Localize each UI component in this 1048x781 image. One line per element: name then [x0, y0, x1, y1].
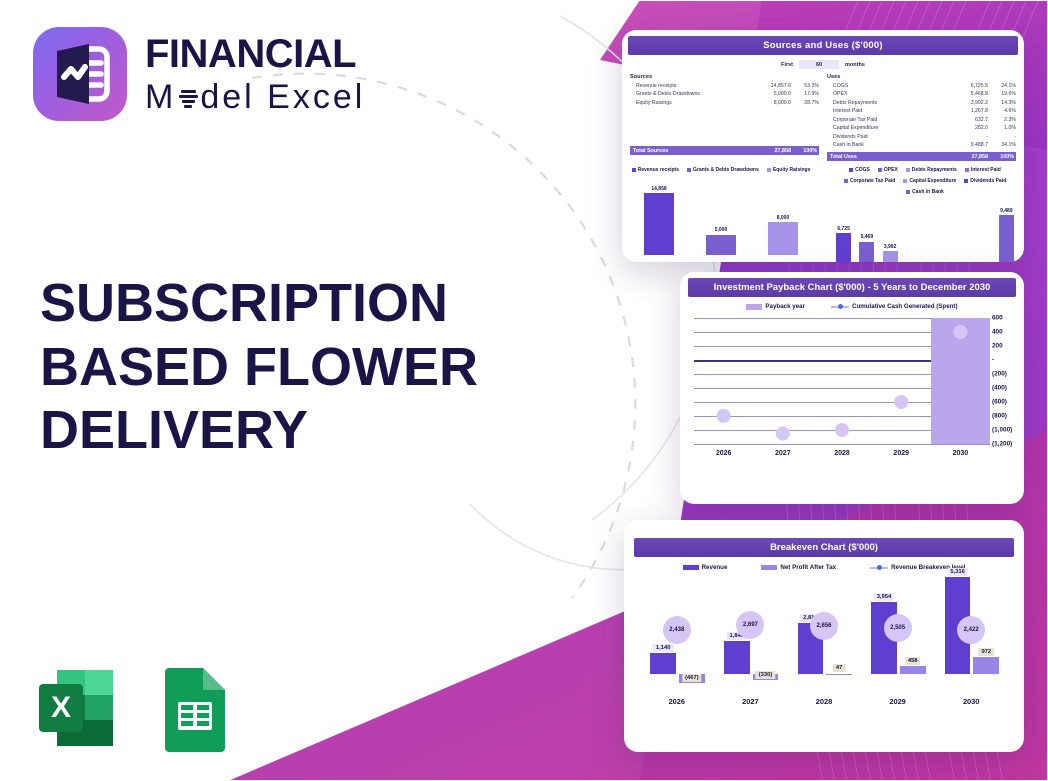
- row-pct: 28.7%: [791, 99, 819, 107]
- legend-swatch: [906, 190, 910, 194]
- bar: [768, 222, 798, 255]
- legend-swatch: [849, 168, 853, 172]
- row-pct: 4.6%: [988, 107, 1016, 115]
- row-pct: 34.1%: [988, 141, 1016, 149]
- bar-group: 3,992: [883, 199, 898, 262]
- bar: [883, 251, 898, 262]
- breakeven-data-point: 2,697: [736, 611, 764, 639]
- table-row: Corporate Tax Paid 632.7 2.3%: [827, 116, 1016, 124]
- legend-item-revenue: Revenue: [683, 564, 728, 571]
- legend-label: OPEX: [884, 167, 898, 173]
- breakeven-data-point: 2,505: [884, 614, 912, 642]
- months-input[interactable]: 60: [799, 60, 839, 69]
- row-value: 5,468.8: [954, 90, 988, 98]
- row-label: Dividends Paid: [827, 133, 954, 141]
- table-row: Equity Raisings 8,000.0 28.7%: [630, 99, 819, 107]
- payback-data-point: [894, 395, 908, 409]
- row-value: 14,857.6: [757, 82, 791, 90]
- y-tick-label: (1,200): [992, 441, 1012, 448]
- x-tick-label: 2030: [931, 450, 990, 457]
- row-value: 3,992.2: [954, 99, 988, 107]
- bar-value-label: 8,000: [777, 215, 790, 221]
- months-selector-row: First 60 months: [622, 60, 1024, 69]
- row-value: 9,488.7: [954, 141, 988, 149]
- supported-apps: X: [33, 664, 231, 757]
- bar-value-label: 6,725: [837, 226, 850, 232]
- bar: [644, 193, 674, 255]
- y-tick-label: (800): [992, 413, 1007, 420]
- uses-header: Uses: [827, 74, 1016, 80]
- brand-name-bottom: M del Excel: [145, 80, 365, 114]
- google-sheets-icon: [159, 664, 231, 757]
- row-label: Cash in Bank: [827, 141, 954, 149]
- x-tick-label: 2026: [640, 697, 714, 706]
- y-tick-label: -: [992, 357, 994, 364]
- bar: [836, 233, 851, 262]
- row-pct: -: [988, 133, 1016, 141]
- legend-label: Revenue receipts: [638, 167, 679, 173]
- row-label: Grants & Debts Drawdowns: [630, 90, 757, 98]
- legend-item: Grants & Debts Drawdowns: [687, 167, 759, 173]
- payback-line-series: [694, 318, 990, 444]
- legend-label: Capital Expenditure: [909, 178, 956, 184]
- row-label: OPEX: [827, 90, 954, 98]
- x-tick-label: 2030: [934, 697, 1008, 706]
- y-tick-label: (200): [992, 371, 1007, 378]
- table-row: Capital Expenditure 282.0 1.0%: [827, 124, 1016, 132]
- payback-y-axis-labels: 600400200-(200)(400)(600)(800)(1,000)(1,…: [992, 318, 1022, 444]
- bar-group: 0: [976, 199, 991, 262]
- legend-item: Revenue receipts: [632, 167, 679, 173]
- row-pct: 1.0%: [988, 124, 1016, 132]
- bar-group: 14,858: [644, 177, 674, 255]
- row-pct: 17.9%: [791, 90, 819, 98]
- y-tick-label: 200: [992, 343, 1003, 350]
- poster-canvas: FINANCIAL M del Excel SUBSCRIPTION BASED…: [0, 0, 1048, 781]
- payback-data-point: [835, 423, 849, 437]
- total-sources-row: Total Sources 27,858 100%: [630, 146, 819, 155]
- bar: [859, 242, 874, 262]
- payback-x-axis-labels: 20262027202820292030: [694, 450, 990, 457]
- legend-item: OPEX: [878, 167, 898, 173]
- table-row: Cash in Bank 9,488.7 34.1%: [827, 141, 1016, 149]
- bar: [999, 215, 1014, 262]
- legend-swatch: [878, 168, 882, 172]
- stacked-bars-icon: [177, 86, 199, 112]
- legend-item: Capital Expenditure: [903, 178, 956, 184]
- breakeven-data-point: 2,656: [810, 612, 838, 640]
- table-row: Grants & Debts Drawdowns 5,000.0 17.9%: [630, 90, 819, 98]
- bar-value-label: 9,489: [1000, 208, 1013, 214]
- bar-group: 282: [952, 199, 967, 262]
- total-value: 27,858: [954, 154, 988, 160]
- uses-column: Uses COGS 6,725.5 24.1% OPEX 5,468.8 19.…: [827, 74, 1016, 161]
- svg-text:X: X: [51, 691, 71, 724]
- total-label: Total Uses: [827, 154, 954, 160]
- page-title: SUBSCRIPTION BASED FLOWER DELIVERY: [40, 272, 580, 463]
- row-pct: 2.3%: [988, 116, 1016, 124]
- legend-swatch-line: [870, 567, 888, 569]
- table-row: Revenue receipts 14,857.6 53.3%: [630, 82, 819, 90]
- bar-group: 6,725: [836, 199, 851, 262]
- legend-item: Interest Paid: [965, 167, 1001, 173]
- legend-label: Interest Paid: [971, 167, 1001, 173]
- breakeven-plot-area: 1,140(467)1,848(330)2,814473,9544585,316…: [640, 577, 1008, 689]
- payback-data-point: [953, 325, 967, 339]
- payback-data-point: [776, 427, 790, 441]
- row-label: COGS: [827, 82, 954, 90]
- row-label: Equity Raisings: [630, 99, 757, 107]
- total-pct: 100%: [791, 148, 819, 154]
- bar-value-label: 5,000: [715, 227, 728, 233]
- legend-item: Corporate Tax Paid: [844, 178, 895, 184]
- legend-item-cumulative-cash: Cumulative Cash Generated (Spent): [831, 303, 958, 310]
- legend-label: Dividends Paid: [970, 178, 1006, 184]
- y-tick-label: 600: [992, 315, 1003, 322]
- logo-glyph: [33, 27, 127, 121]
- row-pct: 53.3%: [791, 82, 819, 90]
- legend-item: COGS: [849, 167, 870, 173]
- row-pct: 14.3%: [988, 99, 1016, 107]
- bar-group: 9,489: [999, 199, 1014, 262]
- months-prefix: First: [781, 62, 793, 68]
- row-value: 8,000.0: [757, 99, 791, 107]
- uses-chart-legend: COGSOPEXDebts RepaymentsInterest PaidCor…: [826, 167, 1024, 195]
- legend-item: Cash in Bank: [906, 189, 944, 195]
- payback-title: Investment Payback Chart ($'000) - 5 Yea…: [688, 278, 1016, 297]
- payback-legend: Payback year Cumulative Cash Generated (…: [680, 303, 1024, 310]
- payback-data-point: [717, 409, 731, 423]
- legend-item-payback-year: Payback year: [746, 303, 805, 310]
- panel-investment-payback[interactable]: Investment Payback Chart ($'000) - 5 Yea…: [680, 272, 1024, 504]
- financial-model-excel-logo-icon: [33, 27, 127, 121]
- bar-group: 8,000: [768, 177, 798, 255]
- legend-swatch: [964, 179, 968, 183]
- brand-name-bottom-pre: M: [145, 80, 176, 114]
- sources-bar-chart: Revenue receiptsGrants & Debts Drawdowns…: [622, 161, 820, 262]
- payback-plot-area: 600400200-(200)(400)(600)(800)(1,000)(1,…: [694, 318, 990, 444]
- table-row: Interest Paid 1,267.8 4.6%: [827, 107, 1016, 115]
- legend-swatch-revenue: [683, 565, 699, 570]
- table-row: COGS 6,725.5 24.1%: [827, 82, 1016, 90]
- row-label: Capital Expenditure: [827, 124, 954, 132]
- legend-label: Debts Repayments: [912, 167, 957, 173]
- x-tick-label: 2027: [714, 697, 788, 706]
- legend-item: Debts Repayments: [906, 167, 957, 173]
- bar-value-label: 3,992: [884, 244, 897, 250]
- legend-label: Payback year: [765, 303, 805, 310]
- row-value: 5,000.0: [757, 90, 791, 98]
- legend-label: Equity Raisings: [773, 167, 811, 173]
- bar-group: 5,000: [706, 177, 736, 255]
- legend-swatch: [632, 168, 636, 172]
- gridline: [694, 444, 990, 445]
- sources-uses-title: Sources and Uses ($'000): [628, 36, 1018, 55]
- row-pct: 24.1%: [988, 82, 1016, 90]
- sources-uses-charts: Revenue receiptsGrants & Debts Drawdowns…: [622, 161, 1024, 262]
- row-label: Debts Repayments: [827, 99, 954, 107]
- bar-group: 1,268: [906, 199, 921, 262]
- legend-swatch-line: [831, 306, 849, 308]
- x-tick-label: 2029: [861, 697, 935, 706]
- breakeven-data-point: 2,438: [663, 616, 691, 644]
- row-label: Revenue receipts: [630, 82, 757, 90]
- legend-label: Revenue: [702, 564, 728, 571]
- sources-bars: 14,8585,0008,000: [622, 177, 820, 255]
- panel-breakeven-chart[interactable]: Breakeven Chart ($'000) Revenue Net Prof…: [624, 520, 1024, 752]
- months-suffix: months: [845, 62, 865, 68]
- legend-swatch-npat: [761, 565, 777, 570]
- microsoft-excel-icon: X: [33, 664, 121, 757]
- x-tick-label: 2028: [812, 450, 871, 457]
- bar-value-label: 14,858: [651, 186, 666, 192]
- x-tick-label: 2028: [787, 697, 861, 706]
- row-label: Corporate Tax Paid: [827, 116, 954, 124]
- brand-name-bottom-post: del Excel: [200, 80, 365, 114]
- legend-label: Net Profit After Tax: [780, 564, 836, 571]
- sources-header: Sources: [630, 74, 819, 80]
- row-label: Interest Paid: [827, 107, 954, 115]
- spacer: [630, 131, 819, 143]
- uses-bars: 6,7255,4693,9921,26863328209,489: [826, 199, 1024, 262]
- legend-item: Dividends Paid: [964, 178, 1006, 184]
- brand-name-top: FINANCIAL: [145, 34, 365, 74]
- row-value: 282.0: [954, 124, 988, 132]
- x-tick-label: 2029: [872, 450, 931, 457]
- legend-item-npat: Net Profit After Tax: [761, 564, 836, 571]
- legend-swatch: [844, 179, 848, 183]
- uses-bar-chart: COGSOPEXDebts RepaymentsInterest PaidCor…: [826, 161, 1024, 262]
- sources-uses-table: Sources Revenue receipts 14,857.6 53.3% …: [622, 74, 1024, 161]
- legend-swatch: [687, 168, 691, 172]
- legend-swatch: [906, 168, 910, 172]
- legend-swatch: [767, 168, 771, 172]
- bar-value-label-revenue: 5,316: [947, 568, 968, 576]
- y-tick-label: 400: [992, 329, 1003, 336]
- sources-chart-legend: Revenue receiptsGrants & Debts Drawdowns…: [622, 167, 820, 173]
- legend-label: Corporate Tax Paid: [850, 178, 895, 184]
- row-value: 6,725.5: [954, 82, 988, 90]
- table-row: OPEX 5,468.8 19.6%: [827, 90, 1016, 98]
- bar: [706, 235, 736, 256]
- x-tick-label: 2027: [753, 450, 812, 457]
- legend-label: Cash in Bank: [912, 189, 944, 195]
- total-label: Total Sources: [630, 148, 757, 154]
- total-pct: 100%: [988, 154, 1016, 160]
- table-row: Debts Repayments 3,992.2 14.3%: [827, 99, 1016, 107]
- y-tick-label: (600): [992, 399, 1007, 406]
- panel-sources-and-uses[interactable]: Sources and Uses ($'000) First 60 months…: [622, 30, 1024, 262]
- bar-group: 633: [929, 199, 944, 262]
- breakeven-x-axis-labels: 20262027202820292030: [640, 697, 1008, 706]
- total-uses-row: Total Uses 27,858 100%: [827, 152, 1016, 161]
- row-value: -: [954, 133, 988, 141]
- bar-group: 5,469: [859, 199, 874, 262]
- table-row: Dividends Paid - -: [827, 133, 1016, 141]
- brand-wordmark: FINANCIAL M del Excel: [145, 34, 365, 114]
- y-tick-label: (1,000): [992, 427, 1012, 434]
- spacer: [630, 107, 819, 119]
- bar-value-label: 5,469: [861, 234, 874, 240]
- spacer: [630, 119, 819, 131]
- legend-swatch: [903, 179, 907, 183]
- y-tick-label: (400): [992, 385, 1007, 392]
- legend-label: Cumulative Cash Generated (Spent): [852, 303, 958, 310]
- row-pct: 19.6%: [988, 90, 1016, 98]
- legend-label: Grants & Debts Drawdowns: [693, 167, 759, 173]
- breakeven-data-point: 2,422: [957, 616, 985, 644]
- breakeven-title: Breakeven Chart ($'000): [634, 538, 1014, 557]
- row-value: 1,267.8: [954, 107, 988, 115]
- brand-logo-row: FINANCIAL M del Excel: [33, 27, 365, 121]
- legend-swatch: [965, 168, 969, 172]
- legend-swatch-bar: [746, 304, 762, 310]
- row-value: 632.7: [954, 116, 988, 124]
- sources-column: Sources Revenue receipts 14,857.6 53.3% …: [630, 74, 819, 161]
- legend-item: Equity Raisings: [767, 167, 811, 173]
- legend-label: COGS: [855, 167, 870, 173]
- x-tick-label: 2026: [694, 450, 753, 457]
- total-value: 27,858: [757, 148, 791, 154]
